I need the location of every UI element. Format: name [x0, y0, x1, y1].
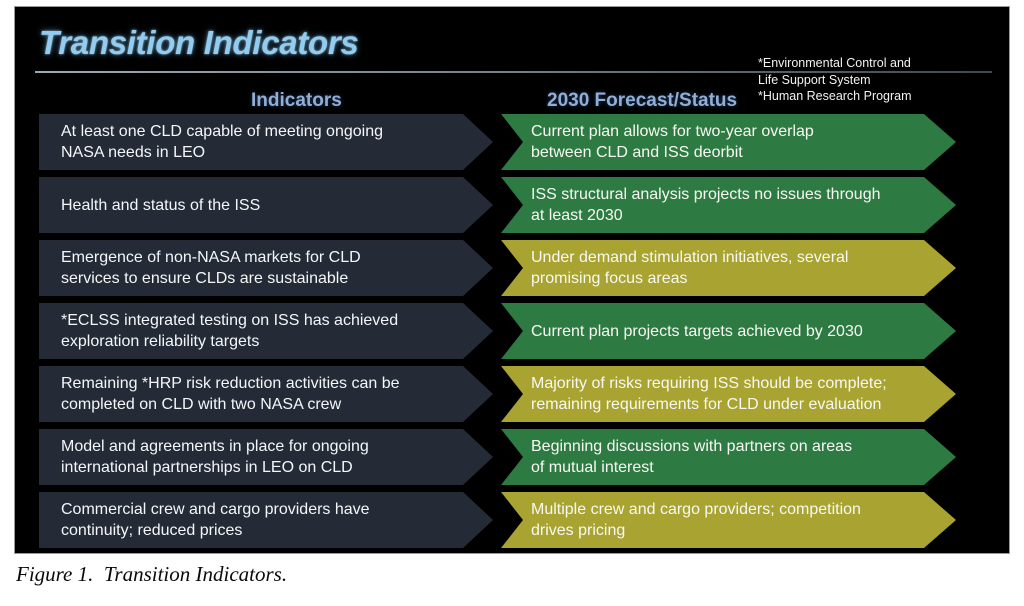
forecast-text: Majority of risks requiring ISS should b… [501, 373, 927, 415]
forecast-chevron-olive: Under demand stimulation initiatives, se… [501, 240, 956, 296]
indicator-text: Model and agreements in place for ongoin… [39, 436, 405, 478]
indicator-text: Health and status of the ISS [39, 195, 296, 216]
table-row: ISS structural analysis projects no issu… [15, 177, 1010, 233]
indicator-text: *ECLSS integrated testing on ISS has ach… [39, 310, 434, 352]
indicator-rows: Current plan allows for two-year overlap… [15, 7, 1010, 554]
forecast-text: Under demand stimulation initiatives, se… [501, 247, 888, 289]
table-row: Multiple crew and cargo providers; compe… [15, 492, 1010, 548]
forecast-text: ISS structural analysis projects no issu… [501, 184, 921, 226]
indicator-chevron: Remaining *HRP risk reduction activities… [39, 366, 493, 422]
figure-caption: Figure 1. Transition Indicators. [16, 562, 287, 587]
indicator-chevron: Emergence of non-NASA markets for CLD se… [39, 240, 493, 296]
forecast-text: Beginning discussions with partners on a… [501, 436, 892, 478]
indicator-text: At least one CLD capable of meeting ongo… [39, 121, 419, 163]
table-row: Beginning discussions with partners on a… [15, 429, 1010, 485]
table-row: Current plan projects targets achieved b… [15, 303, 1010, 359]
forecast-text: Current plan allows for two-year overlap… [501, 121, 854, 163]
indicator-text: Remaining *HRP risk reduction activities… [39, 373, 436, 415]
table-row: Majority of risks requiring ISS should b… [15, 366, 1010, 422]
forecast-chevron-olive: Multiple crew and cargo providers; compe… [501, 492, 956, 548]
indicator-chevron: *ECLSS integrated testing on ISS has ach… [39, 303, 493, 359]
table-row: Current plan allows for two-year overlap… [15, 114, 1010, 170]
forecast-chevron-green: Current plan allows for two-year overlap… [501, 114, 956, 170]
forecast-text: Multiple crew and cargo providers; compe… [501, 499, 901, 541]
forecast-chevron-green: Current plan projects targets achieved b… [501, 303, 956, 359]
indicator-text: Emergence of non-NASA markets for CLD se… [39, 247, 397, 289]
figure-page: Transition Indicators *Environmental Con… [0, 0, 1024, 606]
forecast-text: Current plan projects targets achieved b… [501, 321, 903, 342]
indicator-chevron: Model and agreements in place for ongoin… [39, 429, 493, 485]
indicator-text: Commercial crew and cargo providers have… [39, 499, 406, 541]
indicator-chevron: Commercial crew and cargo providers have… [39, 492, 493, 548]
forecast-chevron-olive: Majority of risks requiring ISS should b… [501, 366, 956, 422]
table-row: Under demand stimulation initiatives, se… [15, 240, 1010, 296]
forecast-chevron-green: ISS structural analysis projects no issu… [501, 177, 956, 233]
indicator-chevron: Health and status of the ISS [39, 177, 493, 233]
forecast-chevron-green: Beginning discussions with partners on a… [501, 429, 956, 485]
slide-frame: Transition Indicators *Environmental Con… [14, 6, 1010, 554]
indicator-chevron: At least one CLD capable of meeting ongo… [39, 114, 493, 170]
